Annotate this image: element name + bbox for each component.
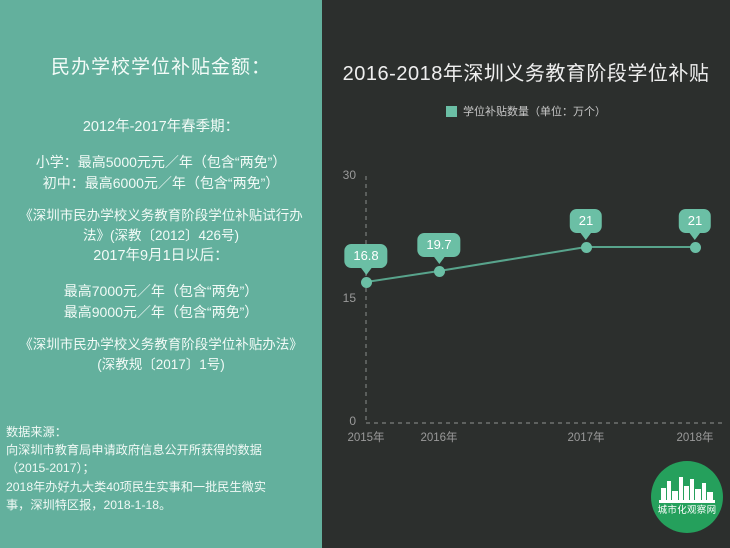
source-line-3: 2018年办好九大类40项民生实事和一批民生微实	[6, 478, 320, 496]
source-line-1: 向深圳市教育局申请政府信息公开所获得的数据	[6, 441, 320, 459]
watermark-logo: 城市化观察网	[651, 461, 723, 533]
y-tick-30: 30	[330, 168, 356, 182]
watermark-text: 城市化观察网	[651, 502, 723, 516]
subsidy-block-2017: 2017年9月1日以后： 最高7000元／年（包含“两免”） 最高9000元／年…	[0, 245, 322, 375]
infographic-canvas: 民办学校学位补贴金额： 2012年-2017年春季期： 小学：最高5000元元／…	[0, 0, 730, 548]
subsidy-block-2012: 2012年-2017年春季期： 小学：最高5000元元／年（包含“两免”） 初中…	[0, 116, 322, 246]
left-info-panel: 民办学校学位补贴金额： 2012年-2017年春季期： 小学：最高5000元元／…	[0, 0, 322, 548]
data-label-2018: 21	[679, 209, 711, 233]
skyline-bar-2	[667, 481, 671, 501]
block-2017-reference: 《深圳市民办学校义务教育阶段学位补贴办法》(深教规〔2017〕1号)	[0, 335, 322, 375]
x-tick-2015: 2015年	[331, 429, 401, 445]
y-tick-15: 15	[330, 291, 356, 305]
x-tick-2017: 2017年	[551, 429, 621, 445]
data-label-2015: 16.8	[344, 244, 387, 268]
series-line-path	[366, 247, 695, 282]
source-label: 数据来源：	[6, 423, 320, 441]
block-2017-line-2: 最高9000元／年（包含“两免”）	[0, 302, 322, 323]
source-line-2: （2015-2017）；	[6, 459, 320, 477]
block-2012-heading: 2012年-2017年春季期：	[0, 116, 322, 138]
block-2017-line-1: 最高7000元／年（包含“两免”）	[0, 281, 322, 302]
block-2012-line-2: 初中：最高6000元／年（包含“两免”）	[0, 173, 322, 194]
x-tick-2016: 2016年	[404, 429, 474, 445]
data-label-2016: 19.7	[417, 233, 460, 257]
skyline-bar-6	[690, 479, 694, 501]
y-tick-0: 0	[330, 414, 356, 428]
data-point-2018[interactable]	[690, 242, 701, 253]
data-point-2017[interactable]	[581, 242, 592, 253]
source-line-4: 事，深圳特区报，2018-1-18。	[6, 496, 320, 514]
skyline-bar-8	[702, 483, 706, 501]
skyline-bar-4	[679, 477, 683, 501]
block-2017-heading: 2017年9月1日以后：	[0, 245, 322, 267]
block-2012-line-1: 小学：最高5000元元／年（包含“两免”）	[0, 152, 322, 173]
skyline-bar-5	[684, 486, 689, 501]
x-tick-2018: 2018年	[660, 429, 730, 445]
block-2012-reference: 《深圳市民办学校义务教育阶段学位补贴试行办法》(深教〔2012〕426号)	[0, 206, 322, 246]
left-panel-title: 民办学校学位补贴金额：	[0, 52, 322, 79]
data-point-2016[interactable]	[434, 266, 445, 277]
data-source-block: 数据来源： 向深圳市教育局申请政府信息公开所获得的数据 （2015-2017）；…	[6, 423, 320, 514]
data-point-2015[interactable]	[361, 277, 372, 288]
data-label-2017: 21	[570, 209, 602, 233]
